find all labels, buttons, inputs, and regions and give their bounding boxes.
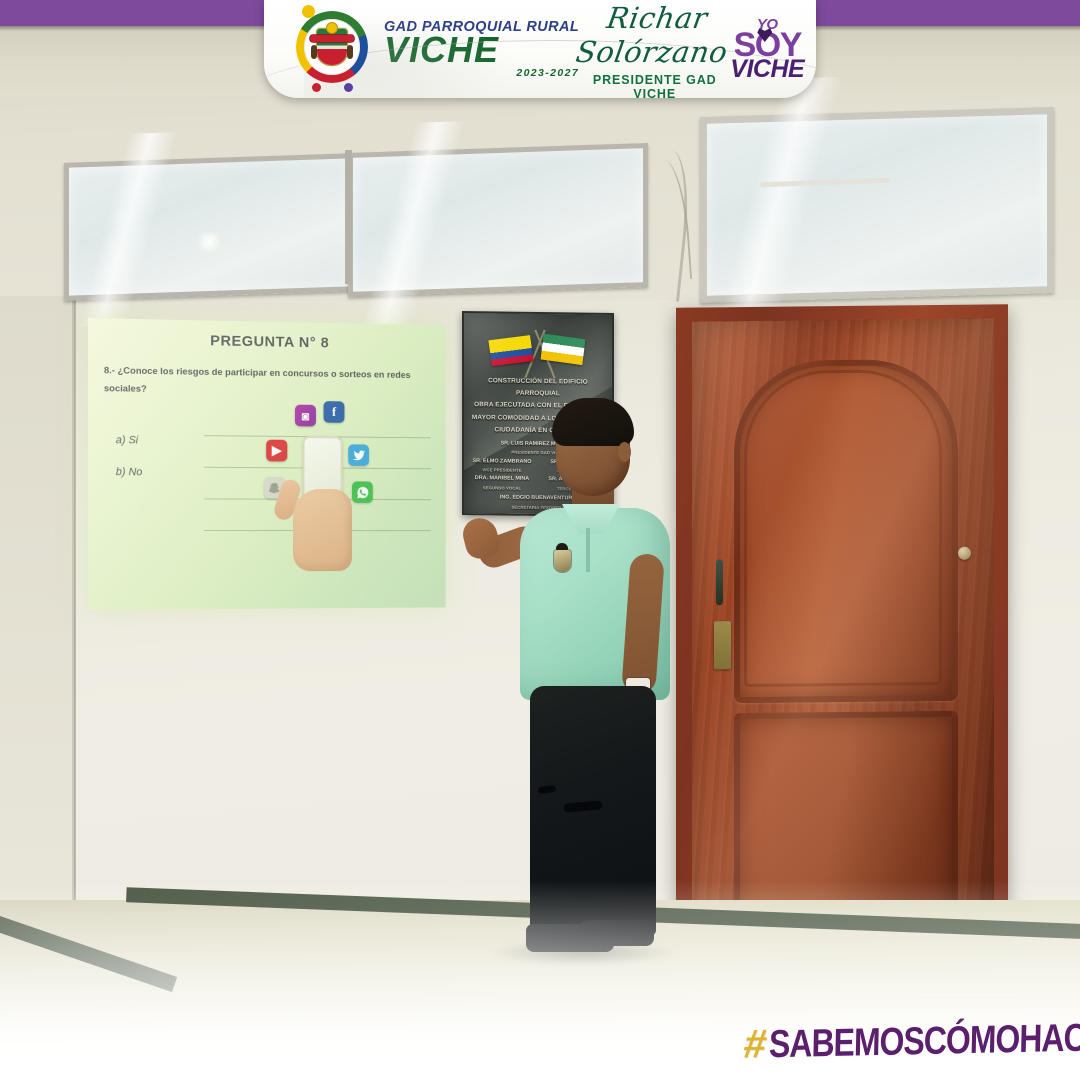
right-shoe bbox=[576, 920, 654, 946]
header-banner: GAD PARROQUIAL RURAL VICHE 2023-2027 Ric… bbox=[264, 0, 816, 98]
social-media-illustration: ◙ f ▶ bbox=[218, 398, 427, 595]
slide-option-a: a) Si bbox=[116, 434, 143, 446]
transom-window-center bbox=[348, 143, 648, 297]
figure-right bbox=[347, 45, 353, 59]
transom-window-left bbox=[64, 153, 356, 301]
whatsapp-icon bbox=[352, 481, 373, 503]
shirt-placket bbox=[586, 528, 590, 572]
slide-options: a) Si b) No bbox=[116, 434, 143, 498]
door-sheen bbox=[692, 318, 994, 965]
hair bbox=[552, 398, 634, 446]
shield-icon bbox=[317, 29, 347, 65]
wall-left-panel bbox=[0, 296, 76, 936]
window-mullion bbox=[345, 150, 352, 284]
wooden-door bbox=[692, 318, 994, 965]
instagram-icon: ◙ bbox=[295, 405, 316, 427]
social-media-post: PREGUNTA N° 8 8.- ¿Conoce los riesgos de… bbox=[0, 0, 1080, 1080]
youtube-icon: ▶ bbox=[266, 440, 287, 462]
shirt-crest-icon bbox=[554, 550, 571, 572]
ear bbox=[618, 442, 631, 462]
signature-name: Richar Solórzano bbox=[574, 1, 736, 69]
black-jeans bbox=[530, 686, 656, 936]
transom-window-right bbox=[700, 107, 1054, 303]
presenter bbox=[468, 404, 728, 984]
event-photograph: PREGUNTA N° 8 8.- ¿Conoce los riesgos de… bbox=[0, 0, 1080, 1080]
slide-question: 8.- ¿Conoce los riesgos de participar en… bbox=[104, 362, 433, 401]
campaign-hashtag: # SABEMOSCÓMOHACERLO bbox=[744, 1014, 1080, 1068]
wall-seam bbox=[72, 300, 75, 920]
hash-symbol-icon: # bbox=[741, 1022, 770, 1068]
hashtag-text: SABEMOSCÓMOHACERLO bbox=[769, 1013, 1080, 1067]
banner-ribbon bbox=[310, 35, 354, 42]
slide-surface: PREGUNTA N° 8 8.- ¿Conoce los riesgos de… bbox=[88, 318, 446, 610]
emblem-dot-purple bbox=[344, 83, 353, 92]
hand-illustration bbox=[293, 489, 352, 571]
gad-viche-emblem bbox=[286, 3, 378, 95]
slide-option-b: b) No bbox=[116, 466, 143, 478]
ceiling-lamp-reflection bbox=[196, 232, 222, 252]
facebook-icon: f bbox=[324, 401, 345, 423]
emblem-dot-red bbox=[312, 83, 321, 92]
projected-slide: PREGUNTA N° 8 8.- ¿Conoce los riesgos de… bbox=[88, 318, 446, 610]
coat-of-arms-icon bbox=[304, 19, 360, 75]
sun-icon bbox=[327, 23, 337, 33]
slide-title: PREGUNTA N° 8 bbox=[88, 330, 446, 354]
twitter-icon bbox=[348, 444, 369, 466]
yo-soy-viche-logo: YO SOY VICHE bbox=[730, 18, 804, 80]
figure-left bbox=[311, 45, 317, 59]
